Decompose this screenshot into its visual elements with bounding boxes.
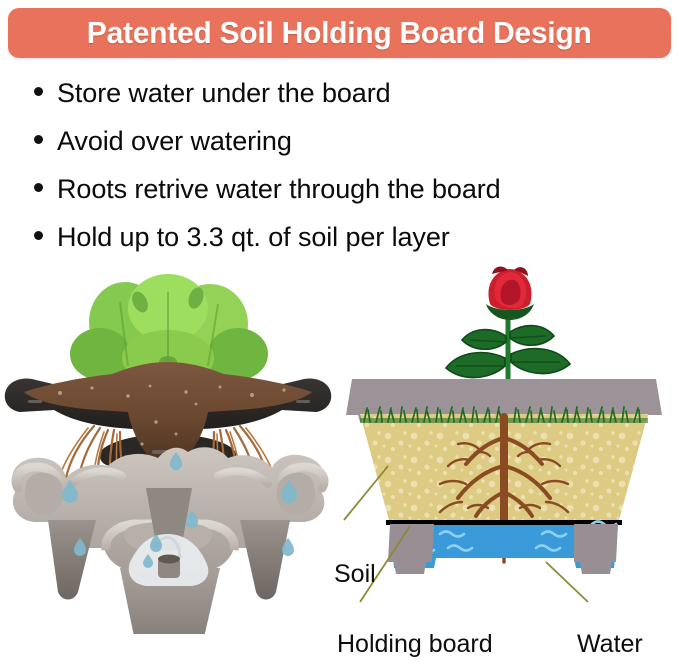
feature-text: Avoid over watering xyxy=(57,118,292,164)
cross-section-graphic xyxy=(330,262,679,669)
list-item: Hold up to 3.3 qt. of soil per layer xyxy=(22,214,662,262)
cross-section-diagram xyxy=(330,262,679,669)
list-item: Avoid over watering xyxy=(22,118,662,166)
list-item: Store water under the board xyxy=(22,70,662,118)
label-water: Water xyxy=(577,630,643,659)
label-holding-board: Holding board xyxy=(337,630,493,659)
feature-list: Store water under the board Avoid over w… xyxy=(22,70,662,262)
feature-text: Roots retrive water through the board xyxy=(57,166,501,212)
product-photo-graphic xyxy=(0,262,340,634)
rose-plant-icon xyxy=(446,267,570,388)
infographic-root: Patented Soil Holding Board Design Store… xyxy=(0,0,679,669)
feature-text: Hold up to 3.3 qt. of soil per layer xyxy=(57,214,450,260)
feature-text: Store water under the board xyxy=(57,70,391,116)
list-item: Roots retrive water through the board xyxy=(22,166,662,214)
product-photo xyxy=(0,262,340,632)
bullet-point-icon xyxy=(34,87,43,96)
bullet-point-icon xyxy=(34,231,43,240)
bullet-point-icon xyxy=(34,183,43,192)
title-banner: Patented Soil Holding Board Design xyxy=(8,8,671,58)
artwork-area xyxy=(0,262,679,669)
label-soil: Soil xyxy=(334,560,376,589)
page-title: Patented Soil Holding Board Design xyxy=(87,15,592,51)
bullet-point-icon xyxy=(34,135,43,144)
